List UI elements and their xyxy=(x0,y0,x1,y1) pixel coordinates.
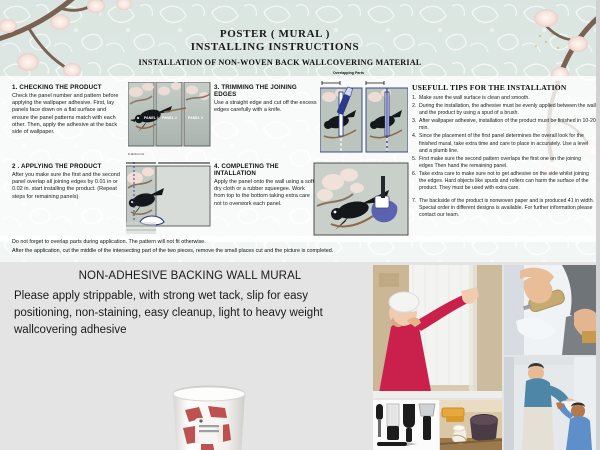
step-2-diagram xyxy=(126,160,212,234)
photo-paste-supplies xyxy=(440,400,502,450)
step-2-heading: 2 . APPLYING THE PRODUCT xyxy=(12,163,124,170)
photo-man-child-wallpapering xyxy=(504,357,600,450)
paste-supplies-image xyxy=(440,400,502,450)
tip-number: 4. xyxy=(412,133,419,154)
photo-woman-applying-mural xyxy=(373,265,502,398)
tip-number: 1. xyxy=(412,95,419,102)
instruction-sheet-panel: POSTER ( MURAL ) INSTALLING INSTRUCTIONS… xyxy=(0,0,600,262)
footnotes: Do not forget to overlap parts during ap… xyxy=(12,238,572,256)
svg-text:PANEL 2: PANEL 2 xyxy=(162,116,177,120)
tip-number: 7. xyxy=(412,198,419,219)
photo-tools-scrapers xyxy=(373,400,439,450)
footnote-1: Do not forget to overlap parts during ap… xyxy=(12,238,572,247)
title-line-1: POSTER ( MURAL ) xyxy=(110,28,440,41)
svg-text:PANEL 3: PANEL 3 xyxy=(188,116,203,120)
title-line-2: INSTALLING INSTRUCTIONS xyxy=(110,41,440,54)
poster-instruction-sheet: POSTER ( MURAL ) INSTALLING INSTRUCTIONS… xyxy=(0,0,600,450)
tip-text: During the installation, the adhesive mu… xyxy=(419,103,596,117)
step-4-diagram xyxy=(313,162,409,236)
tips-list: 1.Make sure the wall surface is clean an… xyxy=(412,95,596,220)
woman-applying-mural-image xyxy=(373,265,502,398)
step-3-diagram xyxy=(320,80,408,156)
step-4-heading: 4. COMPLETING THE INTALLATION xyxy=(214,163,314,177)
tips-heading: USEFULL TIPS FOR THE INSTALLATION xyxy=(412,83,596,92)
promo-body: Please apply strippable, with strong wet… xyxy=(14,288,366,339)
step-2-block: 2 . APPLYING THE PRODUCT After you make … xyxy=(12,163,124,201)
three-panel-illustration: PANEL 1 PANEL 2 PANEL 3 xyxy=(128,82,212,150)
tip-text: First make sure the second pattern overl… xyxy=(419,156,596,170)
svg-text:PANEL 1: PANEL 1 xyxy=(144,116,159,120)
step-1-block: 1. CHECKING THE PRODUCT Check the panel … xyxy=(12,84,124,136)
tip-item: 7.The backside of the product is nonwove… xyxy=(412,198,596,219)
tip-text: Since the placement of the first panel d… xyxy=(419,133,596,154)
installation-tips: USEFULL TIPS FOR THE INSTALLATION 1.Make… xyxy=(412,83,596,221)
step-1-heading: 1. CHECKING THE PRODUCT xyxy=(12,84,124,91)
squeegee-illustration xyxy=(313,162,409,236)
tip-item: 5.First make sure the second pattern ove… xyxy=(412,156,596,170)
page-edge-strip xyxy=(596,0,600,450)
applying-panel-illustration xyxy=(126,160,212,234)
tip-number: 6. xyxy=(412,171,419,192)
product-description-section: NON-ADHESIVE BACKING WALL MURAL Please a… xyxy=(0,262,600,450)
footnote-2: After the application, cut the middle of… xyxy=(12,247,572,256)
promo-heading: NON-ADHESIVE BACKING WALL MURAL xyxy=(14,270,366,282)
tip-text: Make sure the wall surface is clean and … xyxy=(419,95,596,102)
poster-title: POSTER ( MURAL ) INSTALLING INSTRUCTIONS xyxy=(110,28,440,54)
photo-adhesive-bucket xyxy=(163,382,255,450)
tip-text: After wallpaper adhesive, installation o… xyxy=(419,118,596,132)
step-1-body: Check the panel number and pattern befor… xyxy=(12,93,124,136)
promo-text-block: NON-ADHESIVE BACKING WALL MURAL Please a… xyxy=(14,270,366,339)
tip-number: 2. xyxy=(412,103,419,117)
step-3-block: 3. TRIMMING THE JOINING EDGES Use a stra… xyxy=(214,84,320,114)
tip-item: 6.Take extra care to make sure not to ge… xyxy=(412,171,596,192)
tip-text: Take extra care to make sure not to get … xyxy=(419,171,596,192)
tip-number: 5. xyxy=(412,156,419,170)
trimming-edges-illustration xyxy=(320,80,408,156)
man-child-wallpapering-image xyxy=(504,357,600,450)
tip-text: The backside of the product is nonwoven … xyxy=(419,198,596,219)
step-3-heading: 3. TRIMMING THE JOINING EDGES xyxy=(214,84,320,98)
step-1-diagram: PANEL 1 PANEL 2 PANEL 3 xyxy=(128,82,212,150)
photo-hand-roller xyxy=(504,265,600,355)
tip-item: 2.During the installation, the adhesive … xyxy=(412,103,596,117)
tips-spacer xyxy=(412,193,596,197)
step-4-block: 4. COMPLETING THE INTALLATION Apply the … xyxy=(214,163,314,208)
hand-roller-image xyxy=(504,265,600,355)
step-1-measure-label: 0.1in/0.2 mm xyxy=(128,152,144,156)
scraper-tools-image xyxy=(373,400,439,450)
poster-subtitle: INSTALLATION OF NON-WOVEN BACK WALLCOVER… xyxy=(100,58,460,67)
tip-item: 4.Since the placement of the first panel… xyxy=(412,133,596,154)
adhesive-bucket-icon xyxy=(163,382,255,450)
overlapping-parts-label: Overlapping Parts xyxy=(333,71,364,75)
step-3-body: Use a straight edge and cut off the exce… xyxy=(214,100,320,114)
tip-item: 3.After wallpaper adhesive, installation… xyxy=(412,118,596,132)
tip-item: 1.Make sure the wall surface is clean an… xyxy=(412,95,596,102)
tip-number: 3. xyxy=(412,118,419,132)
step-4-body: Apply the panel onto the wall using a so… xyxy=(214,179,314,208)
step-2-body: After you make sure the first and the se… xyxy=(12,172,124,201)
